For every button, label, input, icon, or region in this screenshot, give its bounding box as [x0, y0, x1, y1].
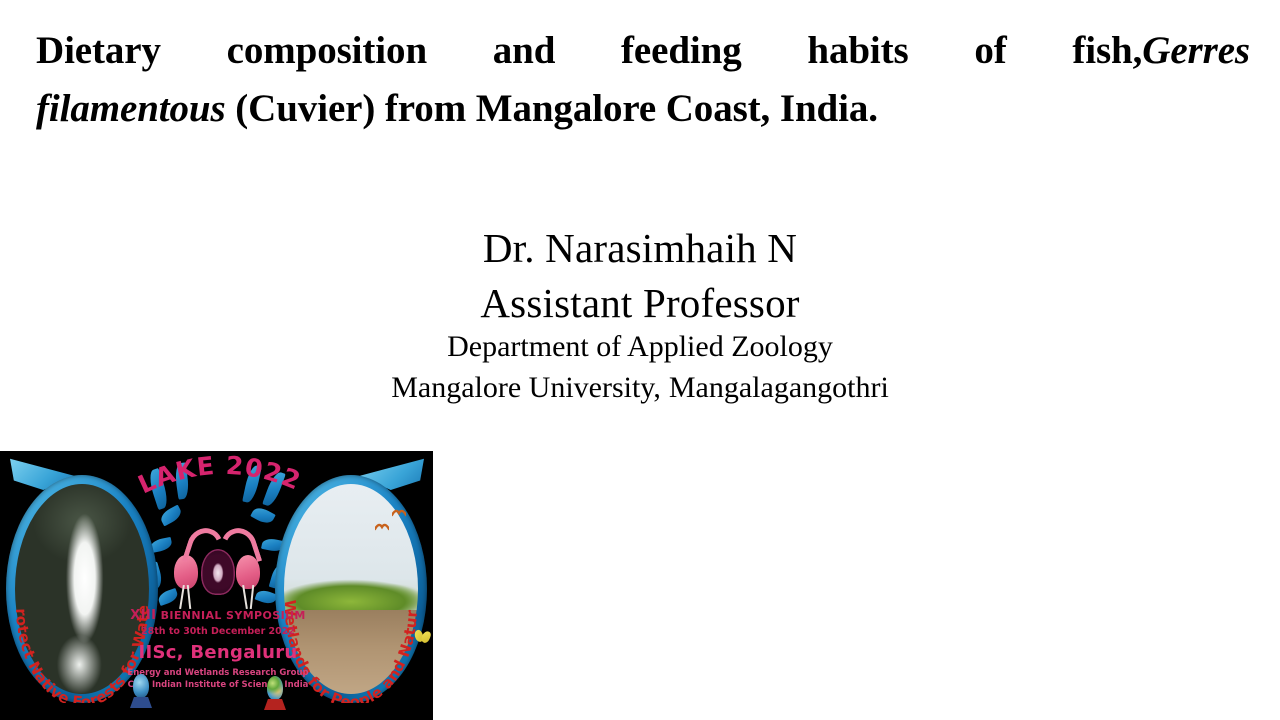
author-block: Dr. Narasimhaih N Assistant Professor De…	[0, 228, 1280, 403]
globe-mascot-icon	[262, 674, 288, 712]
flamingo-pair-emblem	[168, 527, 266, 607]
symposium-venue: IISc, Bengaluru	[118, 643, 318, 664]
author-name: Dr. Narasimhaih N	[0, 228, 1280, 269]
title-text-main: Dietary composition and feeding habits o…	[36, 29, 1142, 72]
butterfly-icon	[415, 630, 431, 644]
globe-mascot-base	[264, 699, 286, 710]
flamingo-leg	[179, 585, 185, 609]
bird-mascot-body	[133, 674, 149, 698]
title-line-1: Dietary composition and feeding habits o…	[36, 22, 1250, 80]
author-role: Assistant Professor	[0, 283, 1280, 324]
leaf-icon	[250, 505, 276, 527]
author-campus: Mangalagangothri	[669, 371, 889, 404]
iisc-emblem-icon	[201, 549, 235, 595]
author-department: Department of Applied Zoology	[0, 331, 1280, 363]
slide-title: Dietary composition and feeding habits o…	[36, 22, 1250, 137]
author-university-line: Mangalore University,Mangalagangothri	[0, 372, 1280, 404]
symposium-rest: BIENNIAL SYMPOSIUM	[161, 609, 306, 622]
title-text-rest: (Cuvier) from Mangalore Coast, India.	[235, 87, 878, 130]
flamingo-leg	[187, 585, 191, 609]
bird-mascot-base	[130, 697, 152, 708]
symposium-numeral: XIII	[130, 608, 156, 623]
lake-2022-conference-poster: LAKE 2022 Protect Native Forests for Wat…	[0, 451, 433, 720]
symposium-title: XIII BIENNIAL SYMPOSIUM	[118, 609, 318, 624]
presentation-slide: Dietary composition and feeding habits o…	[0, 0, 1280, 720]
title-line-2: filamentous (Cuvier) from Mangalore Coas…	[36, 80, 1250, 138]
flying-bird-icon	[375, 522, 389, 531]
globe-mascot-body	[267, 676, 283, 700]
bird-mascot-icon	[128, 672, 154, 712]
title-species-epithet: filamentous	[36, 87, 226, 130]
flying-bird-icon	[392, 508, 406, 517]
author-university: Mangalore University,	[391, 371, 661, 404]
symposium-dates: 28th to 30th December 2022	[118, 627, 318, 638]
title-species-genus: Gerres	[1142, 29, 1250, 72]
